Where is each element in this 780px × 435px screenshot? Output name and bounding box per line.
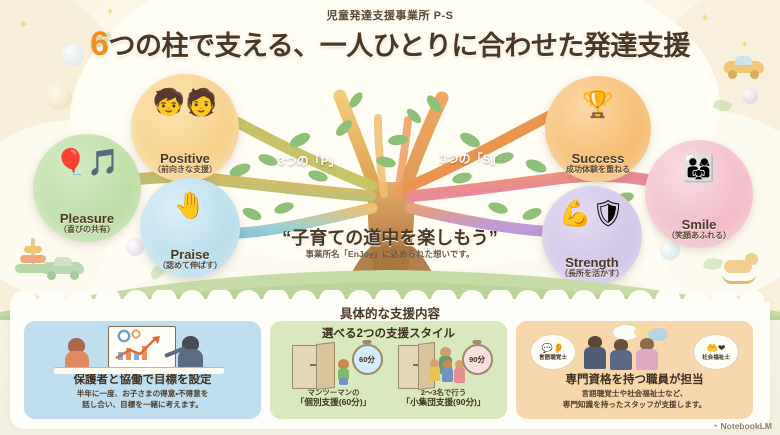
hero-shield-icon: 💪🛡 xyxy=(542,200,642,226)
pillar-label-en: Success xyxy=(572,152,625,166)
heart-hands-icon: 🤲❤ xyxy=(707,344,726,353)
panel-title: 具体的な支援内容 xyxy=(10,303,770,322)
staff-team-icon: 💬👂 言語聴覚士 🤲❤ 社会福祉士 xyxy=(516,324,753,374)
card-heading: 専門資格を持つ職員が担当 xyxy=(566,374,704,388)
style-option-group[interactable]: 90分 2〜3名で行う 「小集団支援(90分)」 xyxy=(396,343,492,408)
children-balloons-icon: 🎈🎵 xyxy=(33,149,141,175)
styles-heading: 選べる2つの支援スタイル xyxy=(322,325,455,341)
watermark-label: NotebookLM xyxy=(721,421,772,431)
pillar-label-en: Positive xyxy=(160,152,210,166)
badge-label: 言語聴覚士 xyxy=(539,353,567,361)
duration-label: 90分 xyxy=(469,354,485,365)
card-sub-line1: 半年に一度、お子さまの得意・不得意を xyxy=(77,389,209,400)
card-sub-line1: 言語聴覚士や社会福祉士など、 xyxy=(582,389,688,400)
branch-label-left: 3つの「P」 xyxy=(278,152,341,169)
pillar-positive[interactable]: 🧒🧑 Positive （前向きな支援） xyxy=(131,74,239,182)
pillar-success[interactable]: 🏆 Success 成功体験を重ねる xyxy=(545,76,651,182)
trophy-blocks-icon: 🏆 xyxy=(545,91,651,117)
card-heading: 保護者と協働で目標を設定 xyxy=(74,374,212,388)
branch-label-right: 3つの「S」 xyxy=(440,150,503,167)
support-cards: 保護者と協働で目標を設定 半年に一度、お子さまの得意・不得意を 話し合い、目標を… xyxy=(24,321,753,419)
card-sub-line2: 話し合い、目標を一緒に考えます。 xyxy=(82,400,203,411)
infographic-canvas: ✦ ✦ ✦ ✦ ✦ ✦ 児童発達支援事業所 P-S 6つの柱で支える、一人ひ xyxy=(0,0,780,435)
card-sub-line2: 専門知識を持ったスタッフが支援します。 xyxy=(563,400,707,411)
style-caption-main: 「個別支援(60分)」 xyxy=(296,397,371,408)
duration-badge-90: 90分 xyxy=(462,344,493,375)
support-detail-panel: 具体的な支援内容 xyxy=(10,299,770,429)
ear-speech-icon: 💬👂 xyxy=(542,344,564,353)
style-caption-top: 2〜3名で行う xyxy=(421,388,466,397)
qualification-badge-st: 💬👂 言語聴覚士 xyxy=(530,334,576,370)
smiling-family-icon: 👨‍👩‍👧 xyxy=(645,155,753,181)
pillar-label-ja: （前向きな支援） xyxy=(153,166,217,175)
badge-label: 社会福祉士 xyxy=(702,353,730,361)
meeting-chart-icon xyxy=(24,324,261,374)
pillar-label-ja: 成功体験を重ねる xyxy=(566,166,630,175)
style-caption-main: 「小集団支援(90分)」 xyxy=(401,397,485,408)
parent-child-arrow-icon: 🧒🧑 xyxy=(131,89,239,115)
duration-badge-60: 60分 xyxy=(352,344,383,375)
qualification-badge-sw: 🤲❤ 社会福祉士 xyxy=(693,334,739,370)
watermark: ◔ NotebookLM xyxy=(712,421,772,431)
door-group-children-icon: 90分 xyxy=(396,343,492,387)
tree-motto: “子育ての道中を楽しもう” xyxy=(0,224,780,250)
style-options: 60分 マンツーマンの 「個別支援(60分)」 xyxy=(286,343,492,408)
style-option-individual[interactable]: 60分 マンツーマンの 「個別支援(60分)」 xyxy=(286,343,382,408)
duration-label: 60分 xyxy=(359,354,375,365)
card-qualified-staff[interactable]: 💬👂 言語聴覚士 🤲❤ 社会福祉士 専門資格を xyxy=(516,321,753,419)
notebooklm-icon: ◔ xyxy=(712,421,717,431)
card-goal-setting[interactable]: 保護者と協働で目標を設定 半年に一度、お子さまの得意・不得意を 話し合い、目標を… xyxy=(24,321,261,419)
door-single-child-icon: 60分 xyxy=(286,343,382,387)
head-pat-icon: 🤚 xyxy=(140,192,240,218)
card-support-styles[interactable]: 選べる2つの支援スタイル 60分 xyxy=(270,321,507,419)
